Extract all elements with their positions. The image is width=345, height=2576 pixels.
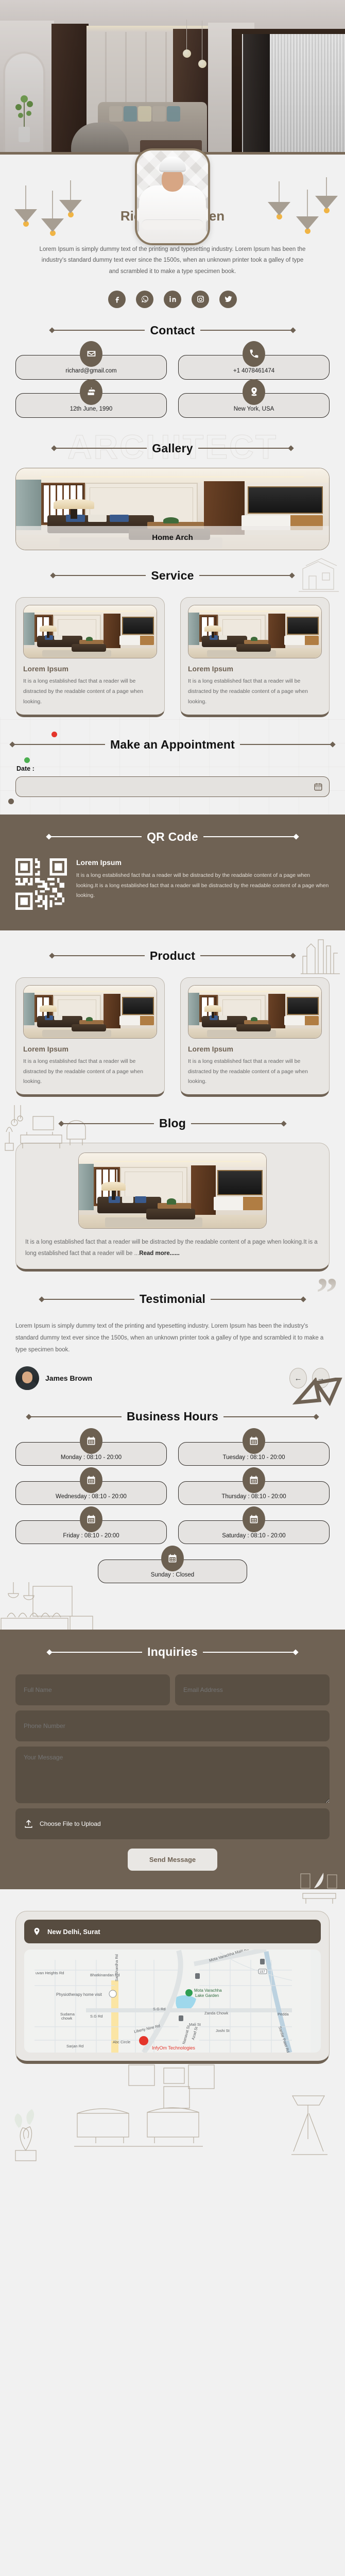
- product-section: Product Lorem Ipsum It is a long establi: [0, 930, 345, 1097]
- section-title: QR Code: [147, 830, 198, 844]
- business-hours-item: Friday : 08:10 - 20:00: [15, 1520, 167, 1544]
- qr-section: QR Code: [0, 815, 345, 930]
- map-label: Sai Shardha Rd: [114, 1954, 119, 1981]
- map-pin-brown-icon: [8, 799, 14, 804]
- calendar-icon: [80, 1428, 102, 1454]
- business-hours-value: Friday : 08:10 - 20:00: [63, 1533, 119, 1539]
- phone-input[interactable]: [15, 1710, 330, 1741]
- business-hours-item-sunday: Sunday : Closed: [98, 1560, 247, 1583]
- business-hours-item: Monday : 08:10 - 20:00: [15, 1442, 167, 1466]
- map-label: chowk: [61, 2016, 73, 2021]
- send-message-button[interactable]: Send Message: [128, 1849, 217, 1871]
- divider-right: [199, 575, 292, 576]
- read-more-link[interactable]: Read more......: [139, 1250, 180, 1257]
- gallery-section: ARCHITECT Gallery Home Arch: [0, 418, 345, 550]
- divider-right: [203, 836, 296, 837]
- product-title: Lorem Ipsum: [188, 1045, 322, 1053]
- whatsapp-icon[interactable]: [136, 291, 153, 308]
- profile-description: Lorem Ipsum is simply dummy text of the …: [36, 244, 309, 277]
- calendar-icon: [243, 1506, 265, 1532]
- qr-title: Lorem Ipsum: [76, 858, 330, 867]
- business-hours-value: Thursday : 08:10 - 20:00: [221, 1494, 286, 1500]
- appointment-section: Make an Appointment Date :: [0, 717, 345, 815]
- section-title: Gallery: [152, 442, 193, 455]
- instagram-icon[interactable]: [192, 291, 209, 308]
- divider-left: [53, 575, 146, 576]
- product-text: It is a long established fact that a rea…: [188, 1057, 322, 1088]
- contact-item-phone[interactable]: +1 4078461474: [178, 355, 330, 380]
- business-hours-value: Saturday : 08:10 - 20:00: [222, 1533, 285, 1539]
- divider-left: [61, 1123, 154, 1124]
- upload-icon: [24, 1819, 33, 1829]
- divider-left: [49, 1652, 142, 1653]
- qr-text: Lorem Ipsum It is a long established fac…: [76, 858, 330, 910]
- map-pin-red-icon: [51, 732, 57, 737]
- date-input[interactable]: [15, 776, 330, 797]
- business-hours-value: Wednesday : 08:10 - 20:00: [56, 1494, 127, 1500]
- divider-left: [12, 744, 105, 745]
- map-address-bar: New Delhi, Surat: [24, 1920, 321, 1943]
- blog-heading: Blog: [0, 1116, 345, 1130]
- route-number: 157: [260, 1970, 265, 1974]
- contact-heading: Contact: [0, 324, 345, 337]
- service-heading: Service: [0, 569, 345, 583]
- service-section: Service Lorem Ipsum It is a long establi: [0, 550, 345, 717]
- divider-left: [54, 448, 147, 449]
- service-title: Lorem Ipsum: [23, 665, 157, 673]
- hero-banner: [0, 0, 345, 155]
- inquiries-row: [0, 1659, 345, 1705]
- testimonial-heading: Testimonial: [0, 1292, 345, 1306]
- calendar-icon: [80, 1467, 102, 1493]
- avatar: [15, 1366, 39, 1390]
- service-thumbnail: [23, 605, 157, 658]
- map-canvas[interactable]: uvan Heights Rd Bhatkinandan Rd Sai Shar…: [24, 1950, 321, 2053]
- divider-left: [29, 1416, 122, 1417]
- park-icon: [185, 1989, 193, 1996]
- qr-body: Lorem Ipsum It is a long established fac…: [0, 844, 345, 910]
- message-textarea[interactable]: [15, 1747, 330, 1803]
- testimonial-footer: James Brown ← →: [0, 1356, 345, 1390]
- calendar-icon: [243, 1467, 265, 1493]
- map-label: Pedda: [278, 2012, 289, 2016]
- pendant-lamp-icon: [268, 181, 290, 219]
- business-hours-item: Tuesday : 08:10 - 20:00: [178, 1442, 330, 1466]
- blog-section: Blog It is a long established fact that …: [0, 1097, 345, 1272]
- business-hours-grid: Monday : 08:10 - 20:00 Tuesday : 08:10 -…: [0, 1423, 345, 1544]
- product-text: It is a long established fact that a rea…: [23, 1057, 157, 1088]
- contact-value: +1 4078461474: [233, 368, 274, 374]
- contact-value: 12th June, 1990: [70, 406, 113, 412]
- footer-illustration: [0, 2064, 345, 2162]
- calendar-icon: [243, 1428, 265, 1454]
- calendar-icon: [80, 1506, 102, 1532]
- section-title: Make an Appointment: [110, 738, 235, 752]
- business-hours-heading: Business Hours: [0, 1410, 345, 1423]
- map-label: Sarjan Rd: [66, 2044, 83, 2048]
- appointment-heading: Make an Appointment: [0, 738, 345, 752]
- social-links: [0, 291, 345, 308]
- service-card[interactable]: Lorem Ipsum It is a long established fac…: [180, 597, 330, 717]
- section-title: Blog: [159, 1116, 186, 1130]
- pendant-lamp-icon: [315, 177, 338, 213]
- map-label: uvan Heights Rd: [36, 1971, 64, 1975]
- divider-left: [42, 1299, 134, 1300]
- map-label: Mali St: [189, 2022, 201, 2027]
- map-poi-label: Mota Varachha: [194, 1988, 222, 1993]
- file-upload-button[interactable]: Choose File to Upload: [15, 1808, 330, 1839]
- contact-value: New York, USA: [234, 406, 274, 412]
- business-hours-value: Tuesday : 08:10 - 20:00: [222, 1454, 285, 1461]
- testimonial-quote: Lorem Ipsum is simply dummy text of the …: [0, 1306, 345, 1356]
- location-icon: [243, 379, 265, 405]
- blog-card[interactable]: It is a long established fact that a rea…: [15, 1143, 330, 1272]
- map-poi-label: Physiotherapy home visit: [56, 1992, 102, 1997]
- inquiries-heading: Inquiries: [0, 1645, 345, 1659]
- product-title: Lorem Ipsum: [23, 1045, 157, 1053]
- map-label: S.G Rd: [153, 2007, 166, 2011]
- service-card[interactable]: Lorem Ipsum It is a long established fac…: [15, 597, 165, 717]
- divider-right: [240, 744, 333, 745]
- map-label: Zanda Chowk: [204, 2011, 229, 2015]
- full-name-input[interactable]: [15, 1674, 170, 1705]
- gallery-heading: Gallery: [0, 442, 345, 455]
- product-cards: Lorem Ipsum It is a long established fac…: [0, 963, 345, 1097]
- map-card: New Delhi, Surat: [15, 1911, 330, 2064]
- divider-left: [49, 836, 142, 837]
- transit-icon: [260, 1959, 265, 1964]
- date-label: Date :: [0, 752, 345, 776]
- phone-icon: [243, 341, 265, 367]
- email-icon: [80, 341, 102, 367]
- contact-item-email[interactable]: richard@gmail.com: [15, 355, 167, 380]
- pendant-lamp-icon: [14, 185, 37, 227]
- calendar-icon[interactable]: [314, 782, 323, 791]
- product-thumbnail: [23, 985, 157, 1039]
- divider-left: [52, 330, 145, 331]
- qr-description: It is a long established fact that a rea…: [76, 871, 330, 902]
- map-label: S.G Rd: [90, 2014, 103, 2019]
- upload-label: Choose File to Upload: [40, 1820, 101, 1827]
- business-hours-item: Thursday : 08:10 - 20:00: [178, 1481, 330, 1505]
- section-title: Inquiries: [147, 1645, 198, 1659]
- product-card[interactable]: Lorem Ipsum It is a long established fac…: [15, 977, 165, 1097]
- qr-heading: QR Code: [0, 830, 345, 844]
- business-hours-value: Monday : 08:10 - 20:00: [61, 1454, 122, 1461]
- email-input[interactable]: [175, 1674, 330, 1705]
- blog-text: It is a long established fact that a rea…: [25, 1237, 320, 1260]
- divider-left: [52, 955, 145, 956]
- qr-code-image: [15, 858, 67, 910]
- transit-icon: [179, 2015, 183, 2021]
- portfolio-page: Richard Madden Architect Engineer Lorem …: [0, 0, 345, 2162]
- testimonial-author: James Brown: [45, 1374, 92, 1382]
- section-title: Contact: [150, 324, 195, 337]
- map-label: Joshi St: [216, 2028, 230, 2033]
- service-thumbnail: [188, 605, 322, 658]
- business-hours-section: Business Hours Monday : 08:10 - 20:00 Tu…: [0, 1390, 345, 1630]
- divider-right: [211, 1299, 303, 1300]
- poi-marker-icon: [109, 1990, 116, 1997]
- product-heading: Product: [0, 949, 345, 963]
- testimonial-nav: ← →: [289, 1368, 330, 1388]
- divider-right: [200, 330, 293, 331]
- map-marker-label: InfyOm Technologies: [152, 2045, 195, 2050]
- business-hours-value: Sunday : Closed: [151, 1572, 194, 1578]
- gallery-caption: Home Arch: [16, 526, 329, 550]
- section-title: Product: [150, 949, 195, 963]
- linkedin-icon[interactable]: [164, 291, 181, 308]
- service-text: It is a long established fact that a rea…: [23, 676, 157, 707]
- contact-item-birthday[interactable]: 12th June, 1990: [15, 393, 167, 418]
- map-address-text: New Delhi, Surat: [47, 1928, 100, 1936]
- map-poi-label: Lake Garden: [195, 1993, 219, 1998]
- service-title: Lorem Ipsum: [188, 665, 322, 673]
- section-title: Testimonial: [140, 1292, 205, 1306]
- business-hours-item: Saturday : 08:10 - 20:00: [178, 1520, 330, 1544]
- inquiries-section: Inquiries Choose File to Upload Send Mes…: [0, 1630, 345, 1889]
- service-cards: Lorem Ipsum It is a long established fac…: [0, 583, 345, 717]
- product-thumbnail: [188, 985, 322, 1039]
- service-text: It is a long established fact that a rea…: [188, 676, 322, 707]
- contact-grid: richard@gmail.com +1 4078461474 12th Jun…: [0, 337, 345, 418]
- divider-right: [200, 955, 293, 956]
- transit-icon: [195, 1973, 200, 1979]
- map-label: Abc Circle: [113, 2040, 130, 2044]
- contact-value: richard@gmail.com: [65, 368, 116, 374]
- product-card[interactable]: Lorem Ipsum It is a long established fac…: [180, 977, 330, 1097]
- avatar: [135, 148, 210, 245]
- blog-thumbnail: [78, 1153, 267, 1229]
- gallery-item[interactable]: Home Arch: [15, 468, 330, 550]
- testimonial-section: ” Testimonial Lorem Ipsum is simply dumm…: [0, 1272, 345, 1390]
- contact-item-location[interactable]: New York, USA: [178, 393, 330, 418]
- hero-interior-illustration: [0, 0, 345, 152]
- divider-right: [191, 1123, 284, 1124]
- prev-arrow-icon[interactable]: ←: [289, 1368, 307, 1388]
- section-title: Service: [151, 569, 194, 583]
- location-icon: [32, 1926, 41, 1937]
- divider-right: [203, 1652, 296, 1653]
- section-title: Business Hours: [127, 1410, 218, 1423]
- business-hours-item: Wednesday : 08:10 - 20:00: [15, 1481, 167, 1505]
- cake-icon: [80, 379, 102, 405]
- contact-section: Contact richard@gmail.com +1 4078461474: [0, 308, 345, 418]
- facebook-icon[interactable]: [108, 291, 126, 308]
- divider-right: [198, 448, 291, 449]
- twitter-icon[interactable]: [219, 291, 237, 308]
- divider-right: [223, 1416, 316, 1417]
- next-arrow-icon[interactable]: →: [312, 1368, 330, 1388]
- calendar-icon: [161, 1546, 184, 1571]
- pendant-lamp-icon: [59, 180, 82, 217]
- map-section: New Delhi, Surat: [0, 1889, 345, 2162]
- date-text-input[interactable]: [16, 783, 314, 790]
